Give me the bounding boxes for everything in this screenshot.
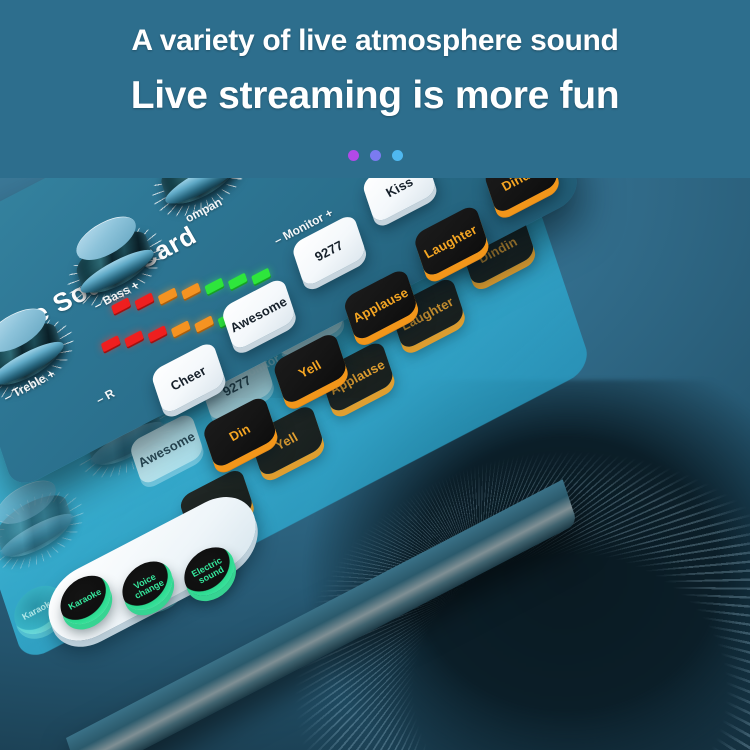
carousel-dots[interactable] [0, 150, 750, 161]
product-banner: A variety of live atmosphere sound Live … [0, 0, 750, 750]
headline-primary: A variety of live atmosphere sound [0, 24, 750, 58]
carousel-dot-3[interactable] [392, 150, 403, 161]
product-photo: Bambia Bambia Bambia Karaoke Voice chang… [0, 178, 750, 750]
live-sound-card-device: Bambia Bambia Bambia Karaoke Voice chang… [0, 178, 750, 750]
carousel-dot-1[interactable] [348, 150, 359, 161]
banner-header: A variety of live atmosphere sound Live … [0, 0, 750, 178]
carousel-dot-2[interactable] [370, 150, 381, 161]
headline-secondary: Live streaming is more fun [0, 74, 750, 118]
